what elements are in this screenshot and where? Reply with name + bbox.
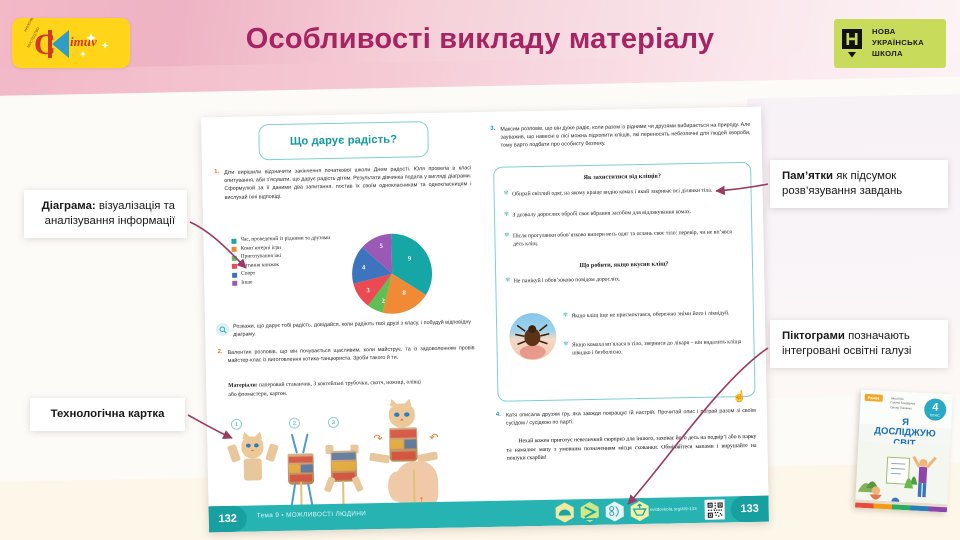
motion-arrow-right: ↶ (429, 433, 438, 444)
memo-item-text: Не панікуй і обов’язково повідом доросли… (514, 275, 621, 285)
paper-cup-final (389, 427, 418, 462)
nus-logo[interactable]: НОВА УКРАЇНСЬКА ШКОЛА (834, 19, 946, 68)
textbook-spread[interactable]: ДО ЗМІСТУ Що дарує радість? 1. Діти вирі… (201, 107, 769, 533)
task-2-text: Валентин розповів, що він почувається ща… (228, 344, 475, 365)
left-page: Що дарує радість? 1. Діти вирішили відзн… (201, 112, 490, 532)
book-cover-art (855, 442, 950, 513)
art-picto-icon[interactable] (553, 500, 575, 523)
flower-bullet-icon: ✾ (504, 191, 509, 199)
memo-box: Як захиститися від кліщів? ✾ Обирай світ… (493, 162, 755, 402)
grade-label: КЛАС (930, 413, 940, 418)
nus-line-3: ШКОЛА (872, 49, 924, 60)
topic-heading-bubble: Що дарує радість? (258, 121, 429, 160)
explore-icon (216, 323, 229, 336)
callout-memo-label: Пам’ятки (782, 170, 833, 182)
grade-number: 4 (932, 402, 939, 413)
chart-legend: Час, проведений із рідними та друзями Ко… (231, 235, 342, 288)
page-number-right: 133 (730, 496, 768, 523)
callout-memo: Пам’ятки як підсумок розв’язування завда… (770, 160, 948, 208)
right-page: 3. Максим розповів, що він дуже радіє, к… (482, 107, 769, 527)
callout-pictograms: Піктограми позначають інтегровані освітн… (770, 320, 948, 368)
callout-tech-card: Технологічна картка (30, 398, 185, 431)
nature-picto-icon[interactable] (628, 499, 650, 522)
qr-code[interactable] (705, 499, 725, 519)
legend-swatch (232, 272, 237, 277)
footer-topic: Тема 9 • МОЖЛИВОСТІ ЛЮДИНИ (257, 510, 367, 519)
materials-text: паперовий стаканчик, 3 коктейльні трубоч… (228, 379, 421, 397)
callout-diagram-label: Діаграма: (42, 200, 96, 212)
legend-label: Час, проведений із рідними та друзями (240, 235, 330, 244)
callout-tech-card-label: Технологічна картка (51, 408, 165, 420)
memo-item: ✾ З дозволу дорослих обробі своє вбрання… (504, 207, 742, 220)
page-number-left: 132 (209, 506, 247, 533)
pie-chart-svg (349, 231, 435, 317)
pie-value-5: 5 (380, 243, 383, 250)
explore-text: Розкажи, що дарує тобі радість, довідайс… (233, 318, 471, 339)
task-4-paragraph: Нехай кожен приготує невеличкий сюрприз … (506, 433, 756, 463)
memo-item: ✾ Не панікуй і обов’язково повідом дорос… (505, 273, 743, 286)
nus-line-2: УКРАЇНСЬКА (872, 38, 924, 49)
memo-item: ✾ Якщо комаха вп’ялася в тіло, звернися … (563, 338, 745, 358)
slide-root: C imuv НАУКОВЕ МИСТЕЦТВО Особливості вик… (0, 0, 960, 540)
pie-value-4: 4 (362, 264, 365, 271)
materials-label: Матеріали: (228, 382, 258, 389)
legend-swatch (232, 264, 237, 269)
flower-bullet-icon: ✾ (504, 233, 509, 249)
math-picto-icon[interactable] (578, 500, 600, 523)
pie-value-0: 9 (408, 255, 411, 262)
thumbs-up-icon: ☝ (733, 390, 747, 403)
paper-cup-step2 (288, 453, 315, 484)
callout-pictograms-label: Піктограми (782, 330, 845, 342)
legend-label: Читання книжок (241, 261, 279, 269)
memo-title-2: Що робити, якщо вкусив кліщ? (496, 259, 752, 271)
callout-diagram: Діаграма: візуалізація та аналізування і… (24, 190, 187, 238)
book-authors: Ніна Бібік Галина Бондарчук Олена Ткачен… (890, 396, 915, 410)
nus-line-1: НОВА (872, 27, 924, 38)
memo-item: ✾ Обирай світлий одяг, на якому краще ви… (504, 186, 742, 199)
legend-label: Інше (241, 279, 252, 286)
task-1-text: Діти вирішили відзначити закінчення поча… (224, 164, 472, 201)
legend-swatch (231, 238, 236, 243)
memo-item-text: Після прогулянки обов’язково випери весь… (513, 228, 743, 249)
step-badge-1: 1 (231, 419, 242, 430)
svitych-logo[interactable]: C imuv НАУКОВЕ МИСТЕЦТВО (12, 18, 130, 68)
memo-item-text: З дозволу дорослих обробі своє вбрання з… (512, 208, 691, 220)
flower-bullet-icon: ✾ (504, 212, 509, 220)
task-3-number: 3. (490, 126, 495, 132)
pictogram-group (553, 499, 650, 524)
tick-photo (509, 313, 557, 361)
svg-text:imuv: imuv (70, 34, 97, 49)
memo-item-text: Обирай світлий одяг, на якому краще видн… (512, 187, 712, 199)
memo-title-1: Як захиститися від кліщів? (494, 171, 750, 183)
motion-arrow-left: ↷ (373, 434, 382, 445)
task-2-number: 2. (218, 349, 223, 355)
page-title: Особливості викладу матеріалу (200, 23, 760, 56)
memo-item-text: Якщо кліщ іще не присмоктався, обережно … (571, 309, 729, 320)
legend-label: Спорт (241, 270, 255, 277)
nus-logo-text: НОВА УКРАЇНСЬКА ШКОЛА (872, 27, 924, 60)
task-4-number: 4. (496, 412, 501, 418)
task-1-number: 1. (214, 169, 219, 175)
flower-bullet-icon: ✾ (563, 341, 568, 357)
step-badge-2: 2 (289, 418, 300, 429)
legend-swatch (232, 255, 237, 260)
footer-url[interactable]: svitdovkola.org/4/9-133 (650, 506, 697, 512)
flower-bullet-icon: ✾ (505, 278, 510, 286)
memo-item: ✾ Якщо кліщ іще не присмоктався, обережн… (563, 309, 745, 321)
legend-label: Приготування їжі (241, 253, 281, 261)
pie-value-2: 2 (382, 298, 385, 305)
nus-mark-icon (841, 28, 866, 59)
task-4-text: Катя описала друзям гру, яка завжди покр… (506, 407, 756, 428)
materials-block: Матеріали: паперовий стаканчик, 3 коктей… (228, 378, 428, 399)
memo-item-text: Якщо комаха вп’ялася в тіло, звернися до… (572, 338, 746, 358)
pie-value-3: 3 (366, 287, 369, 294)
science-picto-icon[interactable] (603, 499, 625, 522)
pie-value-1: 8 (402, 290, 405, 297)
task-3-text: Максим розповів, що він дуже радіє, коли… (500, 121, 750, 150)
legend-item: Інше (232, 277, 342, 286)
book-cover[interactable]: Ранок Ніна Бібік Галина Бондарчук Олена … (855, 390, 953, 513)
flower-bullet-icon: ✾ (563, 312, 568, 320)
topic-heading: Що дарує радість? (290, 134, 397, 148)
legend-swatch (232, 281, 237, 286)
legend-label: Комп’ютерні ігри (241, 244, 282, 252)
legend-swatch (232, 247, 237, 252)
memo-item: ✾ Після прогулянки обов’язково випери ве… (504, 228, 742, 249)
step-badge-3: 3 (328, 417, 339, 428)
pie-chart: 9 8 2 3 4 5 (349, 231, 435, 317)
publisher-badge: Ранок (865, 394, 883, 402)
